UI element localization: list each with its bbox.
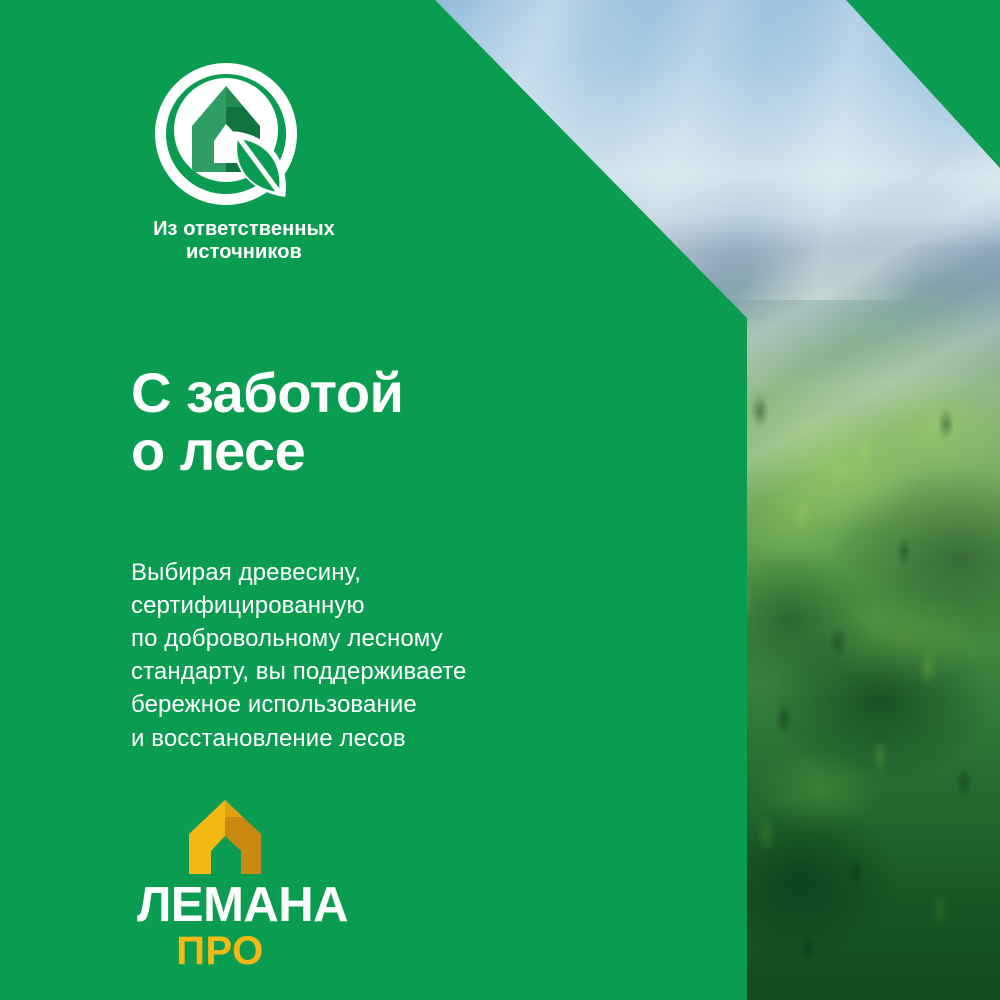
lemana-house-icon	[175, 796, 275, 876]
lemana-pro-logo: ЛЕМАНА ПРО	[137, 796, 327, 971]
body-copy: Выбирая древесину, сертифицированную по …	[131, 556, 467, 755]
lemana-wordmark: ЛЕМАНА	[137, 882, 327, 929]
responsible-sources-house-leaf-mark	[152, 60, 300, 208]
headline: С заботой о лесе	[131, 364, 403, 480]
poster-canvas: Из ответственных источников С заботой о …	[0, 0, 1000, 1000]
responsible-sources-badge: Из ответственных источников	[128, 60, 388, 264]
poster-content: Из ответственных источников С заботой о …	[0, 0, 1000, 1000]
pro-wordmark: ПРО	[137, 931, 327, 971]
responsible-sources-caption: Из ответственных источников	[128, 218, 360, 264]
